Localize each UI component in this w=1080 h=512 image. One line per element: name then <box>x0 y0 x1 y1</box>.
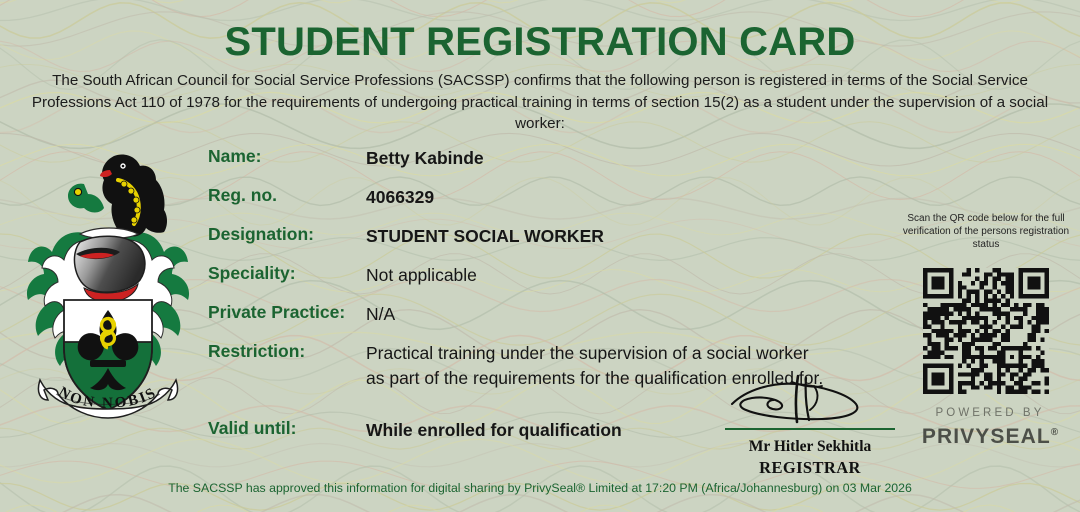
privyseal-name: PRIVYSEAL <box>922 425 1051 448</box>
field-row: Designation:STUDENT SOCIAL WORKER <box>208 224 928 263</box>
registered-mark: ® <box>1051 427 1058 438</box>
field-value: Betty Kabinde <box>366 146 484 171</box>
field-value: N/A <box>366 302 395 327</box>
approval-footer: The SACSSP has approved this information… <box>0 481 1080 495</box>
field-row: Name:Betty Kabinde <box>208 146 928 185</box>
signature-block: Mr Hitler Sekhitla REGISTRAR <box>710 372 910 479</box>
qr-instruction-text: Scan the QR code below for the full veri… <box>900 212 1072 251</box>
field-label: Valid until: <box>208 418 296 439</box>
field-row: Reg. no.4066329 <box>208 185 928 224</box>
field-label: Private Practice: <box>208 302 345 323</box>
field-value: While enrolled for qualification <box>366 418 622 443</box>
crest-beast <box>68 154 167 238</box>
field-label: Restriction: <box>208 341 305 362</box>
powered-by-label: POWERED BY <box>905 406 1075 421</box>
registrar-name: Mr Hitler Sekhitla <box>710 436 910 457</box>
field-value: Not applicable <box>366 263 477 288</box>
privyseal-brand: POWERED BY PRIVYSEAL® <box>905 406 1075 449</box>
field-label: Speciality: <box>208 263 296 284</box>
registrar-role: REGISTRAR <box>710 457 910 479</box>
field-label: Designation: <box>208 224 314 245</box>
qr-code[interactable] <box>917 268 1055 394</box>
signature-line <box>725 428 895 430</box>
privyseal-wordmark: PRIVYSEAL® <box>905 421 1075 449</box>
handwritten-signature <box>710 372 910 428</box>
field-label: Name: <box>208 146 262 167</box>
field-row: Private Practice:N/A <box>208 302 928 341</box>
field-value: STUDENT SOCIAL WORKER <box>366 224 604 249</box>
intro-paragraph: The South African Council for Social Ser… <box>28 70 1052 135</box>
page-title: STUDENT REGISTRATION CARD <box>0 20 1080 65</box>
field-row: Speciality:Not applicable <box>208 263 928 302</box>
field-label: Reg. no. <box>208 185 277 206</box>
student-registration-card: STUDENT REGISTRATION CARD The South Afri… <box>0 0 1080 512</box>
field-value: 4066329 <box>366 185 434 210</box>
coat-of-arms-emblem: NON NOBIS <box>18 142 198 420</box>
